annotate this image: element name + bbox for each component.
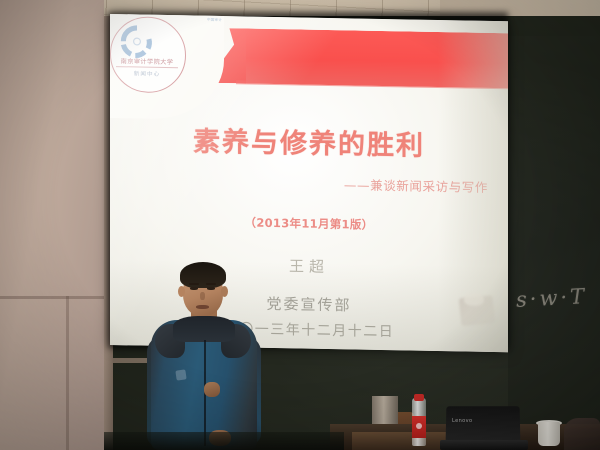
speaker-jacket-logo-patch [175,369,186,380]
logo-arc-icon [120,24,154,59]
left-wall-seam-horizontal [0,296,104,299]
logo-arc-inner-text: 中国审计 [207,18,222,23]
speaker-ear-left [178,286,185,297]
laptop-brand-label: Lenovo [452,418,472,424]
water-bottle-label-emblem [416,423,422,429]
screenshot-root: s·w·T 中国审计 南京审计学院大学 新闻中心 [0,0,600,450]
speaker-hair [180,262,226,288]
speaker-hand-upper [204,382,220,397]
left-wall [0,0,104,450]
speaker-ear-right [221,286,228,297]
speaker-nose [200,292,205,300]
left-wall-seam-vertical [66,296,69,450]
paper-cup [538,422,560,446]
speaker-mouth [196,305,209,309]
speaker-eye-left [190,287,198,290]
blackboard-right-panel [508,36,600,450]
seated-person-silhouette [564,418,600,450]
laptop-base [440,440,528,450]
slide-title: 素养与修养的胜利 [110,118,508,164]
speaker-eyebrow-right [206,283,216,285]
chalk-writing: s·w·T [515,284,587,312]
speaker-eyebrow-left [189,283,199,285]
speaker-collar [173,316,235,342]
water-bottle-cap [414,394,424,401]
speaker-figure [143,262,273,450]
speaker-eye-right [207,287,215,290]
screen-light-artifact-highlight [464,292,484,305]
logo-department-text: 新闻中心 [110,69,190,79]
laptop-screen [446,406,521,442]
logo-institution-text: 南京审计学院大学 [110,56,190,67]
foreground-shadow [104,432,344,450]
